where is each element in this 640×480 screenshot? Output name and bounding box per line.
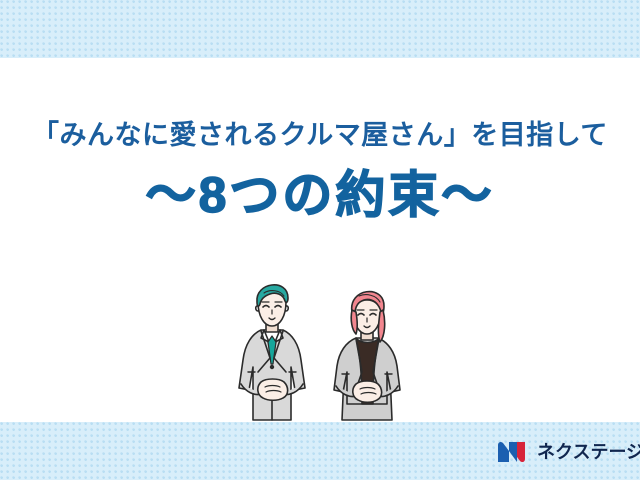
headline-line-2: 〜8つの約束〜 bbox=[0, 166, 640, 224]
headline-block: 「みんなに愛されるクルマ屋さん」を目指して 〜8つの約束〜 bbox=[0, 118, 640, 224]
bowing-staff-illustration bbox=[228, 268, 418, 428]
nextage-logo: ネクステージ bbox=[497, 437, 640, 467]
banner-canvas: 「みんなに愛されるクルマ屋さん」を目指して 〜8つの約束〜 bbox=[0, 0, 640, 480]
nextage-logo-text: ネクステージ bbox=[537, 440, 640, 464]
top-dot-band bbox=[0, 0, 640, 58]
nextage-n-mark-icon bbox=[497, 440, 531, 464]
headline-line-1: 「みんなに愛されるクルマ屋さん」を目指して bbox=[0, 118, 640, 152]
